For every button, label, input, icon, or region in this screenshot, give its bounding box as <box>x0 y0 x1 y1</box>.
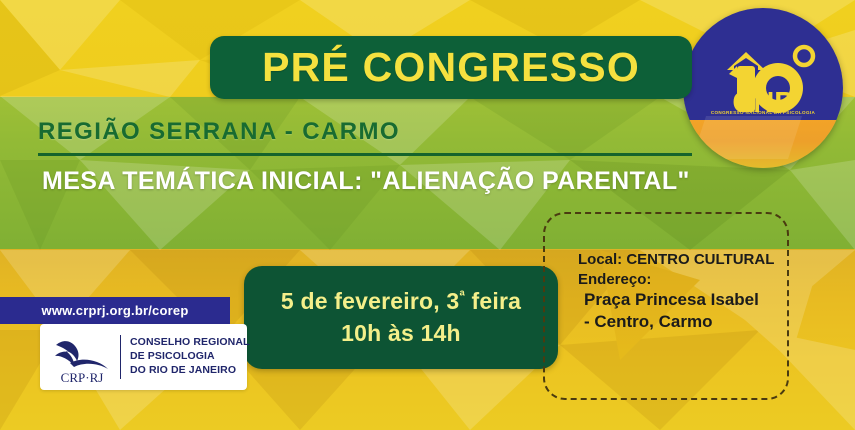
divider-rule <box>38 153 692 156</box>
website-url-bar[interactable]: www.crprj.org.br/corep <box>0 297 230 324</box>
date-text-post: feira <box>465 288 521 314</box>
region-subtitle: REGIÃO SERRANA - CARMO <box>38 118 400 146</box>
date-time-box: 5 de fevereiro, 3ª feira 10h às 14h <box>244 266 558 369</box>
org-line-1: CONSELHO REGIONAL <box>130 336 250 350</box>
time-line: 10h às 14h <box>341 320 461 347</box>
venue-address-line-1: Praça Princesa Isabel <box>578 289 808 311</box>
venue-details: Local: CENTRO CULTURAL Endereço: Praça P… <box>578 250 808 333</box>
crprj-org-name: CONSELHO REGIONAL DE PSICOLOGIA DO RIO D… <box>130 336 250 378</box>
poster-canvas: CNP CONGRESSO NACIONAL DA PSICOLOGIA PRÉ… <box>0 0 855 430</box>
crprj-divider <box>120 335 121 379</box>
date-line: 5 de fevereiro, 3ª feira <box>281 288 521 315</box>
theme-heading: MESA TEMÁTICA INICIAL: "ALIENAÇÃO PARENT… <box>42 167 690 196</box>
main-title-banner: PRÉ CONGRESSO <box>210 36 692 99</box>
org-line-3: DO RIO DE JANEIRO <box>130 364 250 378</box>
org-line-2: DE PSICOLOGIA <box>130 350 250 364</box>
badge-numeral-icon: CNP <box>683 8 843 168</box>
crprj-wordmark: CRP·RJ <box>61 370 104 385</box>
venue-address-line-2: - Centro, Carmo <box>578 311 808 333</box>
website-url-text: www.crprj.org.br/corep <box>42 303 189 318</box>
cnp-logo-badge: CNP CONGRESSO NACIONAL DA PSICOLOGIA <box>683 8 843 168</box>
venue-local-line: Local: CENTRO CULTURAL <box>578 250 808 270</box>
date-text-pre: 5 de fevereiro, 3 <box>281 288 460 314</box>
badge-subtitle: CONGRESSO NACIONAL DA PSICOLOGIA <box>683 110 843 115</box>
crprj-emblem: CRP·RJ <box>46 329 118 385</box>
crprj-logo-card: CRP·RJ CONSELHO REGIONAL DE PSICOLOGIA D… <box>40 324 247 390</box>
venue-address-label: Endereço: <box>578 270 808 290</box>
page-title: PRÉ CONGRESSO <box>262 47 640 88</box>
crprj-bird-icon: CRP·RJ <box>46 329 118 385</box>
